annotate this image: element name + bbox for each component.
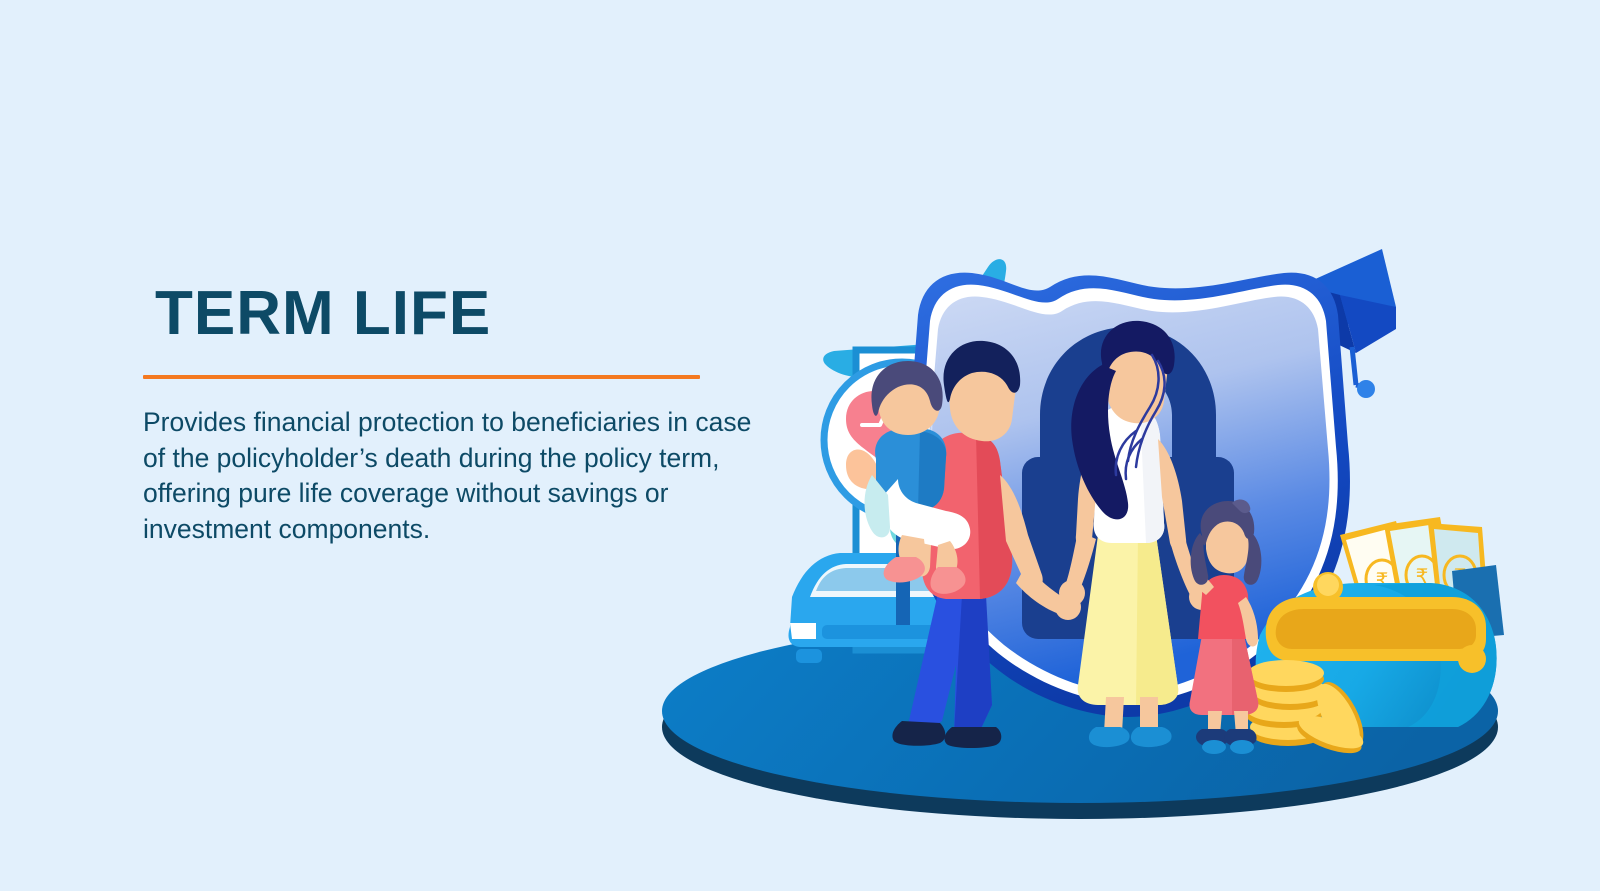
term-life-illustration: WHOLE LIFE INSURANCE [640,235,1520,835]
slide-canvas: TERM LIFE Provides financial protection … [0,0,1600,891]
accent-divider [143,375,700,379]
